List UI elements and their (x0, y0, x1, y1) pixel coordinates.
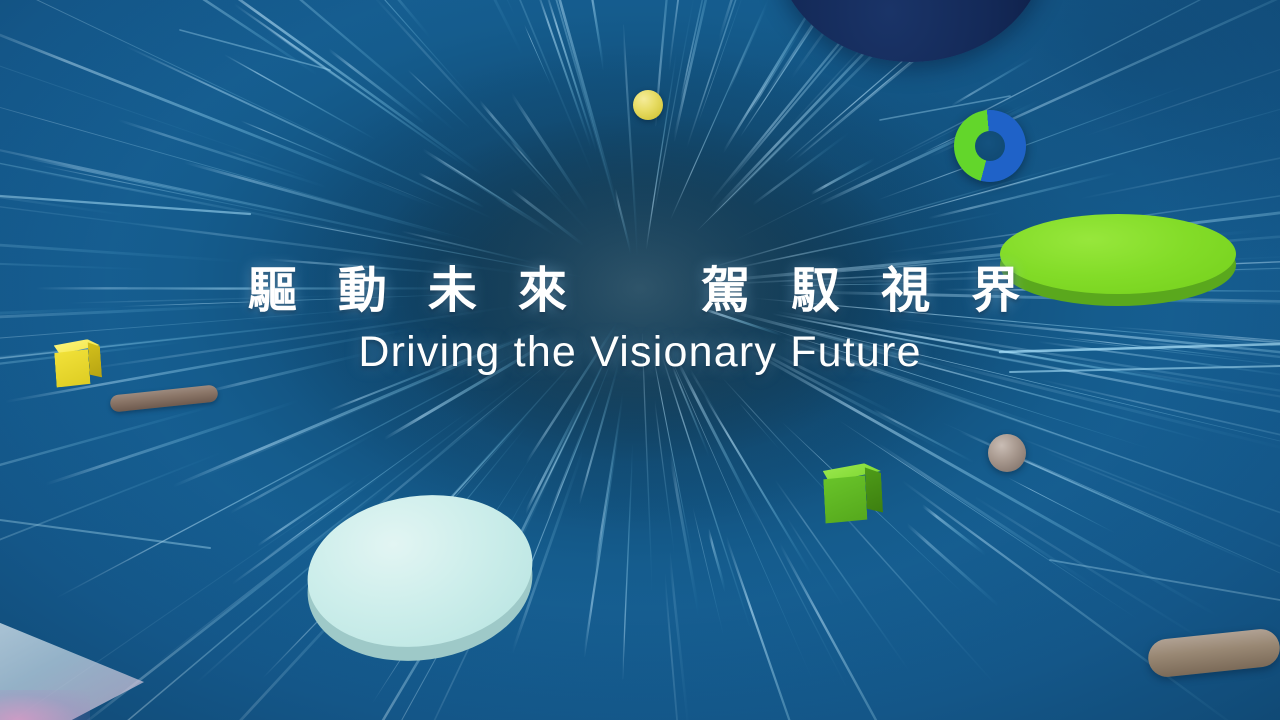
title-card-stage: 驅 動 未 來 駕 馭 視 界 Driving the Visionary Fu… (0, 0, 1280, 720)
corner-glow (0, 690, 90, 720)
donut-ring (954, 110, 1026, 182)
yellow-sphere (633, 90, 663, 120)
title-block: 驅 動 未 來 駕 馭 視 界 Driving the Visionary Fu… (0, 262, 1280, 377)
green-cube (823, 463, 884, 524)
taupe-sphere (988, 434, 1026, 472)
page-title-chinese: 驅 動 未 來 駕 馭 視 界 (0, 262, 1280, 320)
green-cube-front-face (823, 475, 867, 523)
page-subtitle-english: Driving the Visionary Future (0, 328, 1280, 377)
green-cube-side-face (865, 467, 883, 514)
